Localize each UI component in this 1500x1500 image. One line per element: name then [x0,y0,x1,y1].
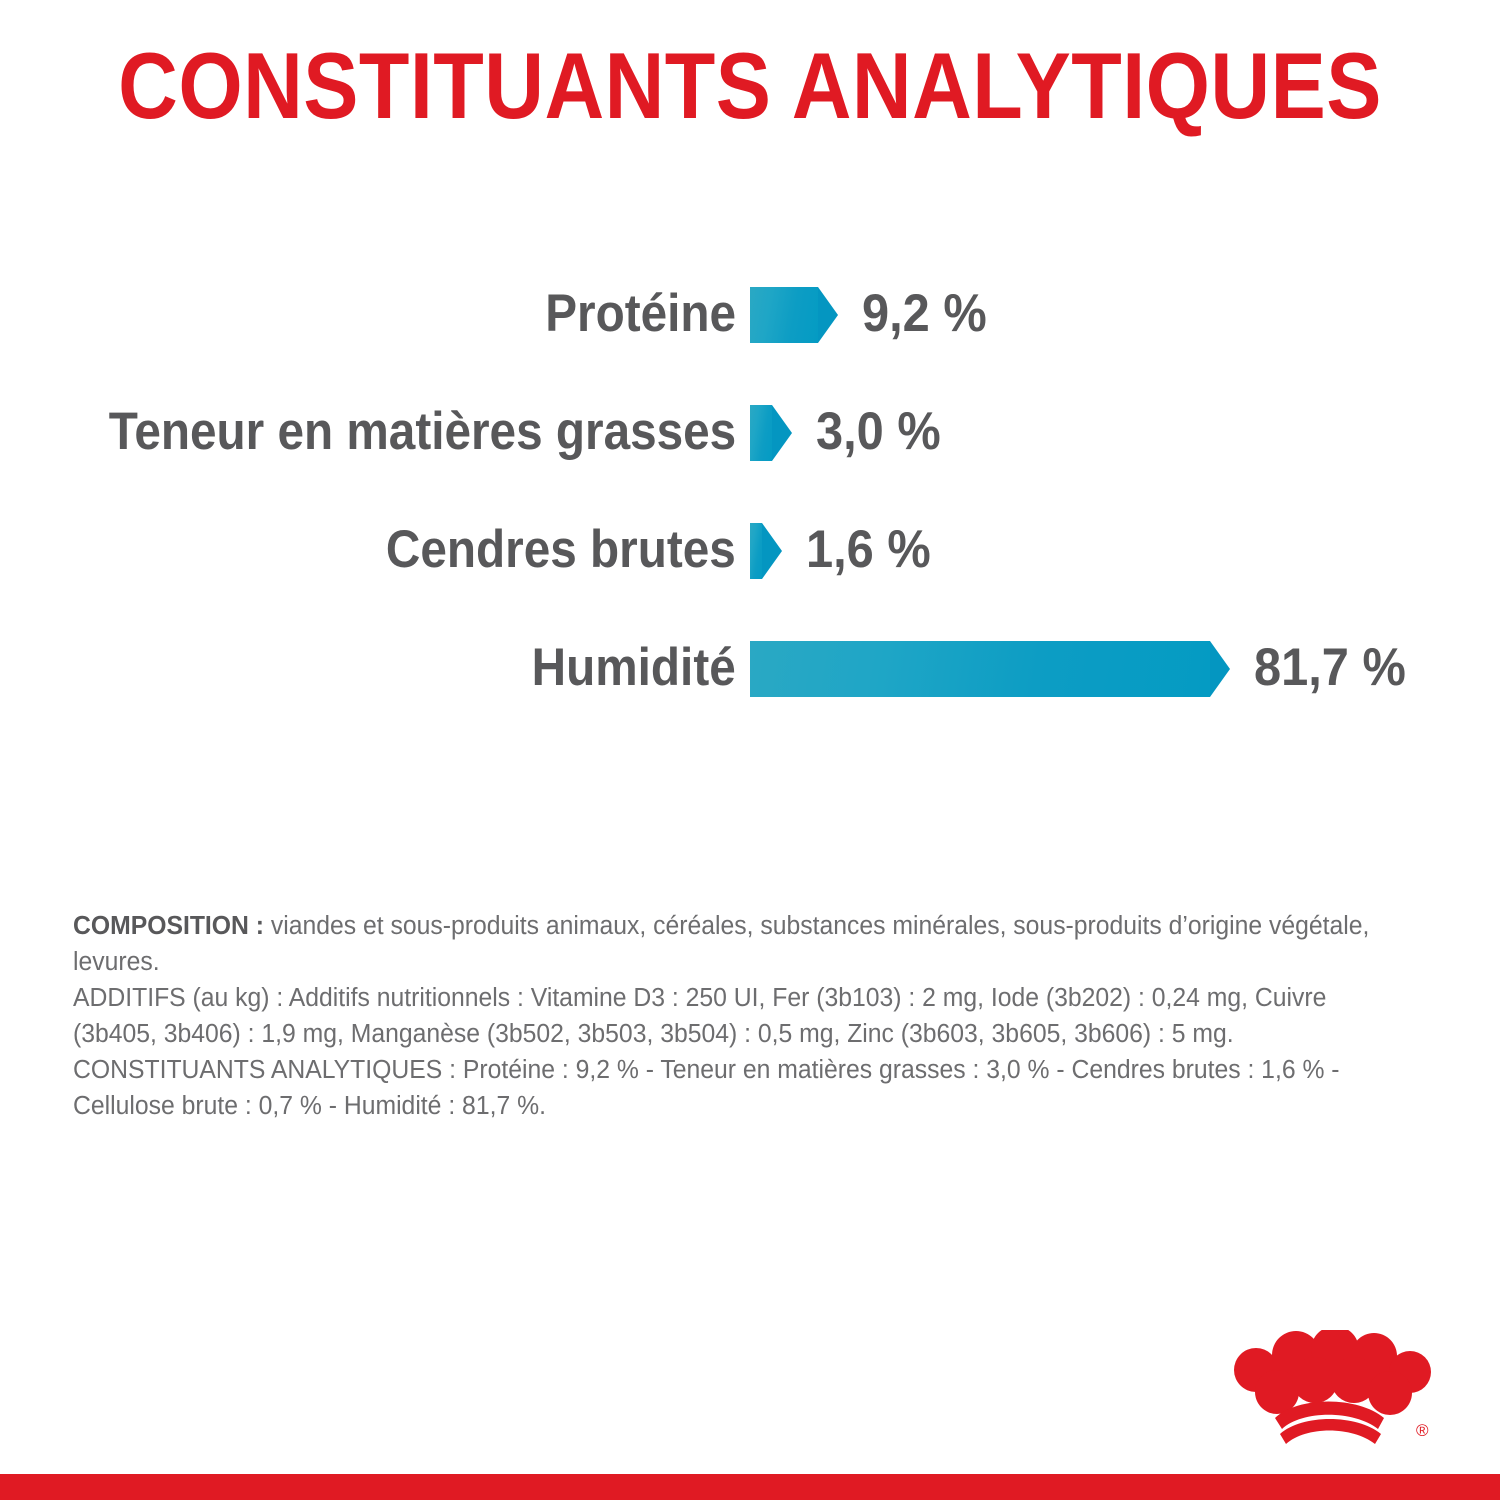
bottom-red-bar [0,1474,1500,1500]
nutrient-bar [750,287,818,343]
composition-ingredients: viandes et sous-produits animaux, céréal… [73,912,1369,976]
registered-trademark-icon: ® [1416,1421,1429,1440]
nutrient-label: Cendres brutes [386,514,736,586]
nutrient-bar [750,641,1210,697]
composition-line-3: CONSTITUANTS ANALYTIQUES : Protéine : 9,… [73,1052,1383,1124]
composition-line-2: ADDITIFS (au kg) : Additifs nutritionnel… [73,980,1383,1052]
composition-text: COMPOSITION : viandes et sous-produits a… [73,908,1383,1124]
nutrient-label: Humidité [532,632,736,704]
nutrient-label: Protéine [545,278,736,350]
nutrient-row: Humidité 81,7 % [0,632,1500,750]
nutrient-label: Teneur en matières grasses [109,396,736,468]
composition-line-1: COMPOSITION : viandes et sous-produits a… [73,908,1383,980]
nutrient-row: Cendres brutes 1,6 % [0,514,1500,632]
bar-arrow-point-icon [818,287,838,343]
nutrient-row: Teneur en matières grasses 3,0 % [0,396,1500,514]
bar-arrow-point-icon [772,405,792,461]
nutrient-row: Protéine 9,2 % [0,278,1500,396]
royal-canin-crown-logo: ® [1216,1330,1438,1448]
nutrient-bar [750,523,762,579]
nutrition-panel: CONSTITUANTS ANALYTIQUES Protéine 9,2 % … [0,0,1500,1500]
nutrient-bar [750,405,772,461]
nutrient-value: 1,6 % [806,514,931,586]
composition-lead-label: COMPOSITION : [73,912,264,940]
bar-arrow-point-icon [1210,641,1230,697]
nutrient-value: 81,7 % [1254,632,1406,704]
analytical-constituents-chart: Protéine 9,2 % Teneur en matières grasse… [0,278,1500,750]
bar-arrow-point-icon [762,523,782,579]
nutrient-value: 3,0 % [816,396,941,468]
page-title: CONSTITUANTS ANALYTIQUES [90,36,1410,136]
nutrient-value: 9,2 % [862,278,987,350]
